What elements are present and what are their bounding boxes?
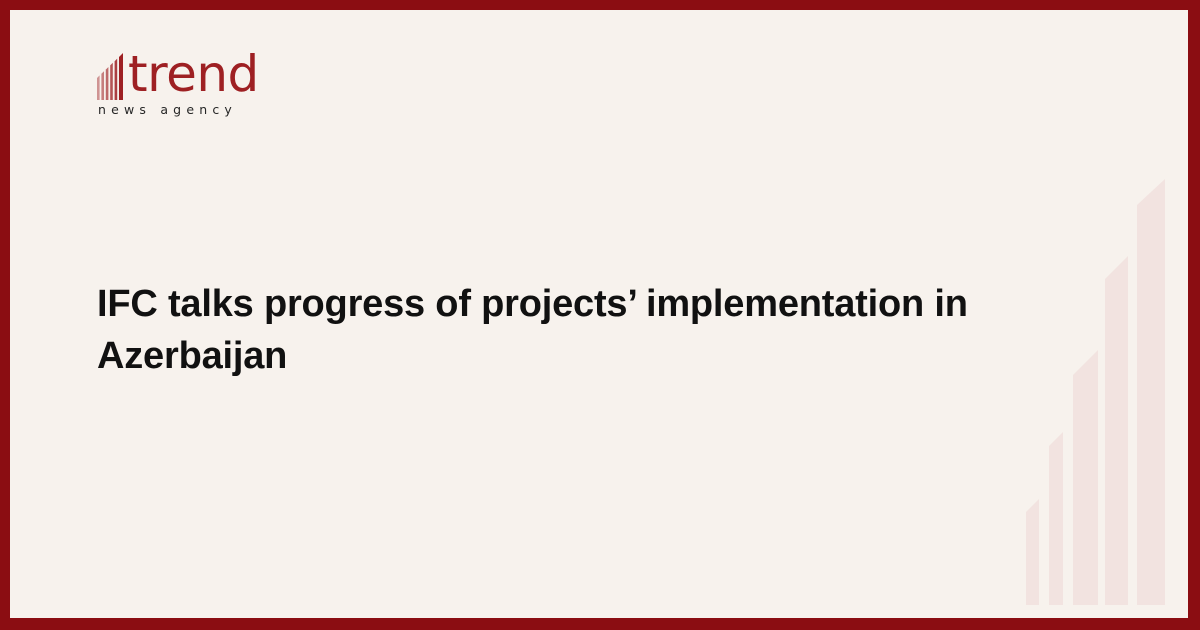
logo-wordmark: trend	[128, 48, 259, 100]
social-share-card: trend news agency IFC talks progress of …	[0, 0, 1200, 630]
logo-tagline: news agency	[98, 102, 297, 118]
card-canvas: trend news agency IFC talks progress of …	[10, 10, 1188, 618]
trend-logo[interactable]: trend news agency	[97, 42, 297, 118]
logo-lockup: trend	[97, 42, 297, 100]
ascending-bars-watermark-icon	[1020, 160, 1175, 608]
article-headline: IFC talks progress of projects’ implemen…	[97, 278, 987, 382]
ascending-bars-icon	[97, 48, 127, 100]
